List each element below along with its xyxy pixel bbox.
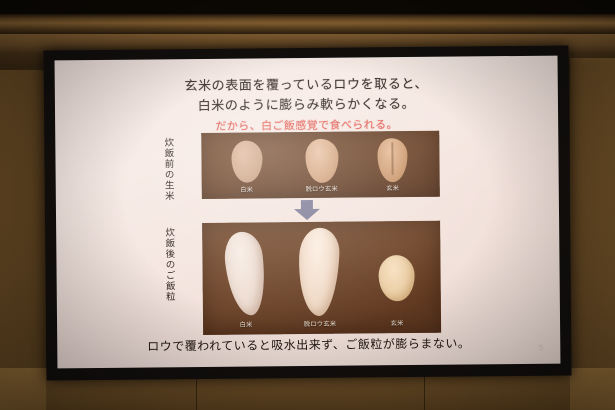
ceiling-shadow <box>0 0 615 14</box>
grain-caption-dewaxed-uncooked: 脱ロウ玄米 <box>306 184 339 193</box>
side-label-cooked-rice: 炊飯後のご飯粒 <box>161 227 176 302</box>
grain-caption-white-cooked: 白米 <box>240 320 253 329</box>
presentation-slide: 玄米の表面を覆っているロウを取ると、 白米のように膨らみ軟らかくなる。 だから、… <box>55 56 561 369</box>
slide-footer-caption: ロウで覆われていると吸水出来ず、ご飯粒が膨らまない。 <box>57 334 560 356</box>
rice-grain-brown-uncooked <box>377 138 407 182</box>
slide-page-number: 5 <box>539 344 544 352</box>
projection-screen-surface: 玄米の表面を覆っているロウを取ると、 白米のように膨らみ軟らかくなる。 だから、… <box>55 56 561 369</box>
wall-left <box>0 70 46 410</box>
uncooked-rice-photo-panel: 白米 脱ロウ玄米 玄米 <box>201 131 440 199</box>
grain-caption-white-uncooked: 白米 <box>240 185 253 194</box>
cooked-rice-photo-panel: 白米 脱ロウ玄米 玄米 <box>202 221 441 335</box>
arrow-head <box>294 209 320 220</box>
grain-caption-brown-cooked: 玄米 <box>391 318 404 327</box>
rice-grain-brown-cooked <box>378 255 414 301</box>
down-arrow-icon <box>294 200 320 220</box>
slide-title-line-2: 白米のように膨らみ軟らかくなる。 <box>55 92 558 116</box>
rice-grain-white-uncooked <box>231 140 262 182</box>
wall-seam <box>196 374 197 410</box>
projection-screen-frame: 玄米の表面を覆っているロウを取ると、 白米のように膨らみ軟らかくなる。 だから、… <box>43 45 571 380</box>
wall-right <box>570 58 615 410</box>
wall-seam <box>424 374 425 410</box>
rice-grain-dewaxed-uncooked <box>305 139 338 183</box>
rice-grain-white-cooked <box>222 230 269 318</box>
grain-caption-dewaxed-cooked: 脱ロウ玄米 <box>304 319 337 328</box>
rice-grain-dewaxed-cooked <box>297 227 341 317</box>
grain-caption-brown-uncooked: 玄米 <box>386 183 399 192</box>
side-label-uncooked-rice: 炊飯前の生米 <box>160 137 175 201</box>
